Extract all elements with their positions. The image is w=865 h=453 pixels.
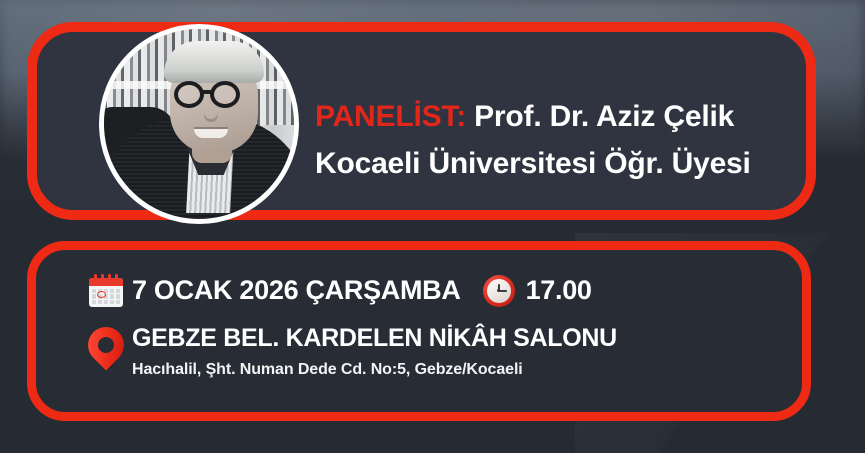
calendar-ring <box>101 274 104 281</box>
location-pin-icon-slot <box>80 327 132 375</box>
date-time-text: 7 OCAK 2026 ÇARŞAMBA 17.00 <box>132 275 592 307</box>
calendar-ring <box>94 274 97 281</box>
venue-name: GEBZE BEL. KARDELEN NİKÂH SALONU <box>132 324 617 353</box>
panelist-heading: PANELİST: Prof. Dr. Aziz Çelik <box>315 98 835 136</box>
calendar-grid <box>92 289 120 304</box>
calendar-icon <box>89 274 123 307</box>
panelist-affiliation: Kocaeli Üniversitesi Öğr. Üyesi <box>315 144 835 183</box>
event-time: 17.00 <box>526 275 592 306</box>
event-details-panel: 7 OCAK 2026 ÇARŞAMBA 17.00 <box>27 241 811 421</box>
venue-row: GEBZE BEL. KARDELEN NİKÂH SALONU Hacıhal… <box>80 324 617 379</box>
panelist-name: Prof. Dr. Aziz Çelik <box>474 100 734 133</box>
calendar-highlight-date <box>97 291 106 298</box>
calendar-icon-slot <box>80 274 132 307</box>
venue-address: Hacıhalil, Şht. Numan Dede Cd. No:5, Geb… <box>132 360 617 379</box>
venue-text-block: GEBZE BEL. KARDELEN NİKÂH SALONU Hacıhal… <box>132 324 617 379</box>
spacer <box>466 100 474 133</box>
panelist-portrait <box>99 24 299 224</box>
clock-icon <box>483 275 515 307</box>
calendar-ring <box>115 274 118 281</box>
speaker-panel: PANELİST: Prof. Dr. Aziz Çelik Kocaeli Ü… <box>27 22 816 220</box>
portrait-grayscale-filter <box>104 29 294 219</box>
location-pin-icon <box>88 327 124 375</box>
calendar-ring <box>108 274 111 281</box>
date-time-row: 7 OCAK 2026 ÇARŞAMBA 17.00 <box>80 274 592 307</box>
speaker-text-block: PANELİST: Prof. Dr. Aziz Çelik Kocaeli Ü… <box>315 98 835 183</box>
event-poster: PANELİST: Prof. Dr. Aziz Çelik Kocaeli Ü… <box>0 0 865 453</box>
event-date: 7 OCAK 2026 ÇARŞAMBA <box>132 275 461 306</box>
panelist-role-label: PANELİST: <box>315 100 466 133</box>
